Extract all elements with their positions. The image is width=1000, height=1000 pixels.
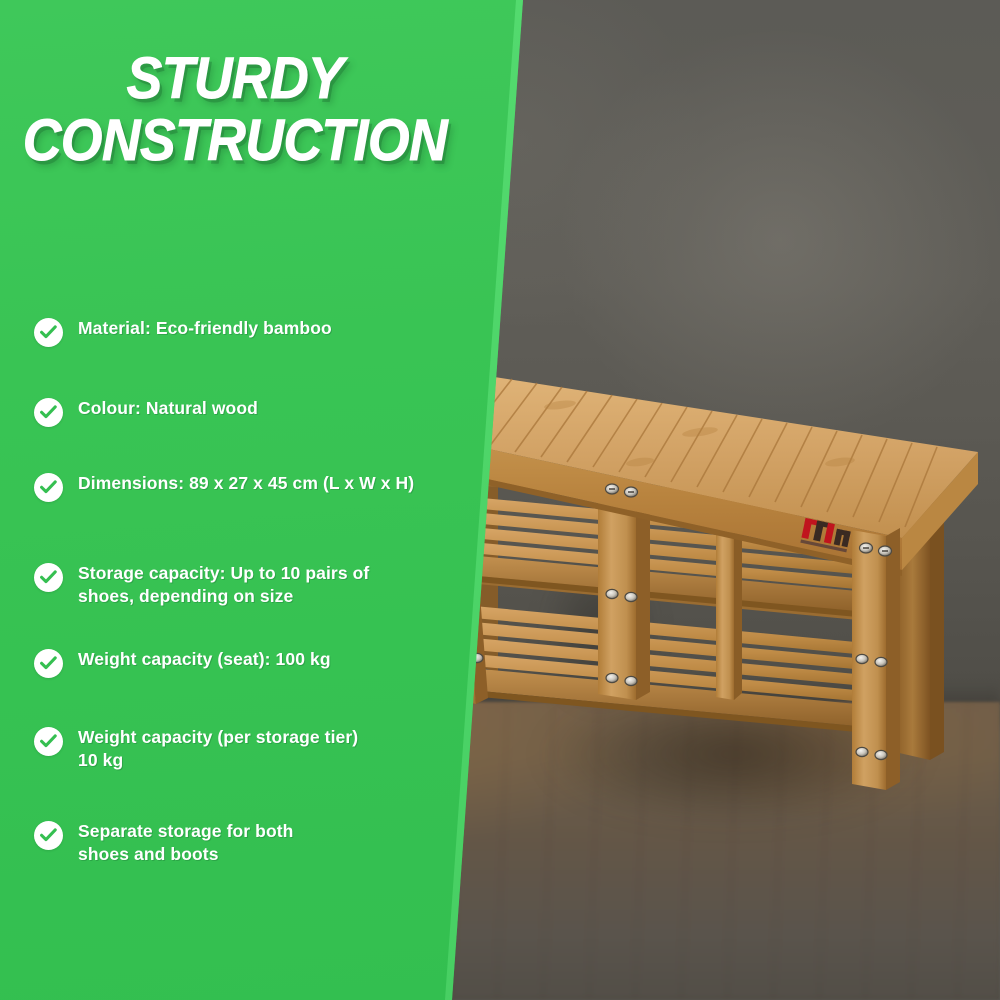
title-line-2: CONSTRUCTION — [19, 110, 451, 172]
feature-item-weight-capacity-seat: Weight capacity (seat): 100 kg — [34, 648, 434, 678]
feature-label: Colour: Natural wood — [78, 397, 258, 420]
feature-item-dimensions: Dimensions: 89 x 27 x 45 cm (L x W x H) — [34, 472, 434, 502]
infographic-canvas: STURDY CONSTRUCTION Material: Eco-friend… — [0, 0, 1000, 1000]
feature-label: Weight capacity (seat): 100 kg — [78, 648, 331, 671]
feature-item-weight-capacity-tier: Weight capacity (per storage tier) 10 kg — [34, 726, 364, 772]
feature-item-colour: Colour: Natural wood — [34, 397, 434, 427]
feature-label: Separate storage for both shoes and boot… — [78, 820, 344, 866]
check-circle-icon — [34, 727, 63, 756]
feature-item-material: Material: Eco-friendly bamboo — [34, 317, 434, 347]
check-circle-icon — [34, 318, 63, 347]
check-circle-icon — [34, 649, 63, 678]
feature-label: Material: Eco-friendly bamboo — [78, 317, 332, 340]
feature-item-separate-storage: Separate storage for both shoes and boot… — [34, 820, 344, 866]
check-circle-icon — [34, 398, 63, 427]
check-circle-icon — [34, 821, 63, 850]
title-line-1: STURDY — [19, 48, 451, 110]
check-circle-icon — [34, 473, 63, 502]
check-circle-icon — [34, 563, 63, 592]
page-title: STURDY CONSTRUCTION — [19, 48, 451, 172]
feature-item-storage-capacity: Storage capacity: Up to 10 pairs of shoe… — [34, 562, 434, 608]
feature-label: Weight capacity (per storage tier) 10 kg — [78, 726, 364, 772]
feature-label: Dimensions: 89 x 27 x 45 cm (L x W x H) — [78, 472, 414, 495]
feature-label: Storage capacity: Up to 10 pairs of shoe… — [78, 562, 428, 608]
